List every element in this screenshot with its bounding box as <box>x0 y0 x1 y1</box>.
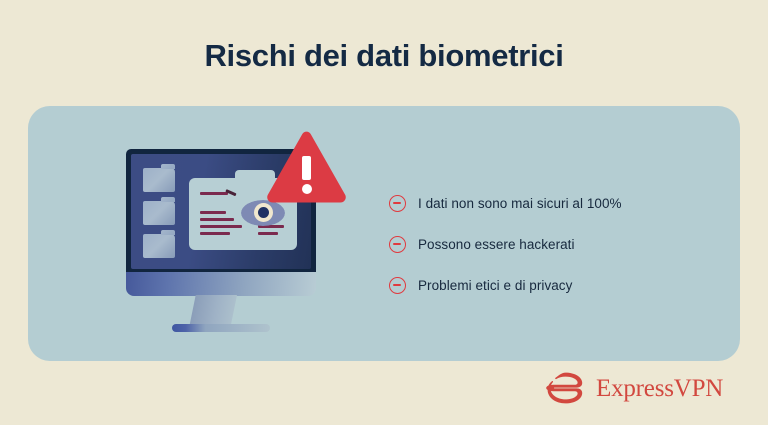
expressvpn-wordmark: ExpressVPN <box>596 376 723 401</box>
eye-pupil <box>258 207 269 218</box>
list-item-label: I dati non sono mai sicuri al 100% <box>418 196 622 211</box>
list-item-label: Problemi etici e di privacy <box>418 278 572 293</box>
minus-circle-icon <box>389 277 406 294</box>
eye-icon <box>241 200 285 226</box>
text-line <box>200 225 242 228</box>
expressvpn-e-mark-icon <box>545 372 585 404</box>
folder-icon <box>143 234 175 258</box>
list-item-label: Possono essere hackerati <box>418 237 575 252</box>
minus-circle-icon <box>389 195 406 212</box>
text-line-diagonal <box>225 189 236 196</box>
page-title: Rischi dei dati biometrici <box>0 38 768 74</box>
monitor-base <box>172 324 270 332</box>
text-line <box>200 192 228 195</box>
text-line <box>200 211 226 214</box>
list-item: Possono essere hackerati <box>389 234 622 254</box>
expressvpn-logo: ExpressVPN <box>545 372 723 404</box>
folder-icon <box>143 201 175 225</box>
text-line <box>258 232 278 235</box>
exclamation-bar <box>302 156 311 180</box>
exclamation-dot <box>302 184 312 194</box>
folder-icon-list <box>143 168 177 267</box>
text-line <box>200 232 230 235</box>
minus-circle-icon <box>389 236 406 253</box>
folder-icon <box>143 168 175 192</box>
text-line <box>200 218 234 221</box>
list-item: I dati non sono mai sicuri al 100% <box>389 193 622 213</box>
monitor-chin <box>126 272 316 296</box>
list-item: Problemi etici e di privacy <box>389 275 622 295</box>
illustration-monitor-warning <box>96 114 371 329</box>
risk-list: I dati non sono mai sicuri al 100% Posso… <box>389 193 622 295</box>
warning-triangle-icon <box>266 130 347 203</box>
